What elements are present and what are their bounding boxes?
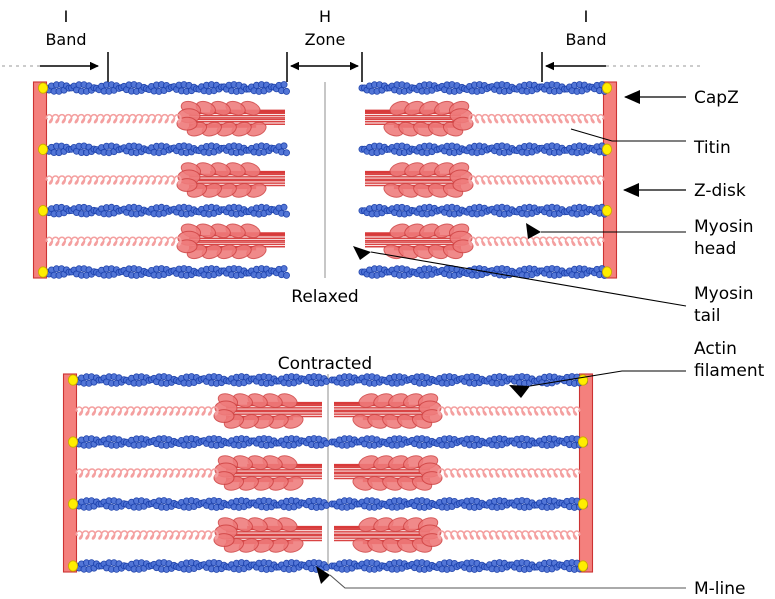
titin-spring: [46, 115, 181, 123]
z-disk-label: Z-disk: [694, 181, 746, 201]
actin-row: [38, 143, 289, 156]
actin-row: [329, 374, 588, 387]
actin-filament: [41, 204, 290, 217]
actin-row: [68, 498, 329, 511]
titin-leader: [571, 129, 686, 141]
actin-filament: [71, 498, 330, 511]
capz-cap: [602, 205, 611, 215]
myosin-head-arrowhead: [526, 223, 541, 239]
actin-filament: [41, 143, 290, 156]
titin-spring: [469, 237, 604, 245]
annotation-capz: CapZ: [625, 88, 739, 108]
titin-spring: [46, 176, 181, 184]
actin-filament: [329, 436, 588, 449]
actin-row: [38, 204, 289, 217]
sarcomere-contracted: [64, 374, 593, 573]
h-zone-line1: H: [319, 7, 331, 26]
diagram-canvas: I Band H Zone I Band: [0, 0, 775, 599]
h-zone-marker: H Zone: [287, 7, 362, 82]
titin-spring: [469, 176, 604, 184]
titin-spring: [46, 237, 181, 245]
myosin-head-label-line2: head: [694, 239, 736, 259]
actin-arrowhead: [509, 385, 530, 398]
z-disk-right: [604, 82, 617, 278]
capz-cap: [38, 83, 47, 93]
myosin-tail-label-line2: tail: [694, 306, 721, 326]
titin-spring: [76, 407, 218, 415]
actin-filament: [329, 498, 588, 511]
capz-cap: [68, 375, 77, 385]
capz-cap: [602, 83, 611, 93]
capz-cap: [38, 267, 47, 277]
actin-monomer: [281, 143, 287, 149]
actin-monomer: [283, 150, 289, 156]
capz-cap: [578, 437, 587, 447]
titin-spring: [76, 531, 218, 539]
m-line-label: M-line: [694, 579, 745, 599]
sarcomere-relaxed: [34, 82, 617, 279]
actin-monomer: [283, 88, 289, 94]
actin-filament: [329, 560, 588, 573]
capz-cap: [602, 267, 611, 277]
actin-row: [68, 374, 329, 387]
myosin-head-label-line1: Myosin: [694, 217, 753, 237]
i-band-right-line1: I: [584, 7, 589, 26]
actin-label-line2: filament: [694, 361, 765, 381]
actin-row: [38, 82, 289, 95]
sarcomere-diagram: I Band H Zone I Band: [0, 0, 775, 599]
actin-row: [38, 266, 289, 279]
i-band-left-line1: I: [64, 7, 69, 26]
i-band-left-line2: Band: [45, 30, 86, 49]
actin-row: [359, 82, 612, 95]
i-band-right-marker: I Band: [542, 7, 700, 82]
annotation-z-disk: Z-disk: [624, 181, 746, 201]
actin-filament: [359, 266, 608, 279]
actin-monomer: [283, 211, 289, 217]
capz-cap: [68, 499, 77, 509]
actin-row: [359, 204, 612, 217]
myosin-tail-leader: [371, 252, 686, 306]
band-scale: I Band H Zone I Band: [2, 7, 700, 82]
actin-filament: [329, 374, 588, 387]
m-line-leader: [330, 575, 686, 588]
myosin-tail-arrowhead: [353, 246, 371, 260]
titin-spring: [469, 115, 604, 123]
capz-cap: [578, 499, 587, 509]
i-band-right-line2: Band: [565, 30, 606, 49]
actin-monomer: [281, 204, 287, 210]
actin-row: [329, 560, 588, 573]
caption-relaxed: Relaxed: [291, 287, 358, 307]
actin-filament: [41, 82, 290, 95]
titin-spring: [438, 531, 580, 539]
capz-cap: [68, 561, 77, 571]
actin-monomer: [283, 272, 289, 278]
z-disk-right: [580, 374, 593, 572]
actin-row: [68, 436, 329, 449]
capz-cap: [578, 561, 587, 571]
titin-spring: [438, 469, 580, 477]
z-disk-left: [64, 374, 77, 572]
actin-row: [359, 143, 612, 156]
caption-contracted: Contracted: [278, 354, 372, 374]
titin-label: Titin: [693, 138, 731, 158]
actin-filament: [71, 436, 330, 449]
myosin-tail-label-line1: Myosin: [694, 284, 753, 304]
z-disk-left: [34, 82, 47, 278]
actin-filament: [41, 266, 290, 279]
i-band-left-marker: I Band: [2, 7, 108, 82]
h-zone-line2: Zone: [305, 30, 346, 49]
actin-filament: [359, 82, 608, 95]
titin-spring: [76, 469, 218, 477]
annotation-actin: Actin filament: [509, 339, 765, 398]
actin-row: [68, 560, 329, 573]
actin-label-line1: Actin: [694, 339, 737, 359]
actin-filament: [359, 204, 608, 217]
actin-row: [329, 498, 588, 511]
titin-spring: [438, 407, 580, 415]
actin-monomer: [281, 266, 287, 272]
actin-filament: [71, 560, 330, 573]
capz-cap: [68, 437, 77, 447]
capz-cap: [38, 205, 47, 215]
actin-filament: [359, 143, 608, 156]
capz-label: CapZ: [694, 88, 739, 108]
actin-filament: [71, 374, 330, 387]
actin-row: [329, 436, 588, 449]
capz-cap: [38, 144, 47, 154]
actin-monomer: [281, 82, 287, 88]
capz-cap: [602, 144, 611, 154]
